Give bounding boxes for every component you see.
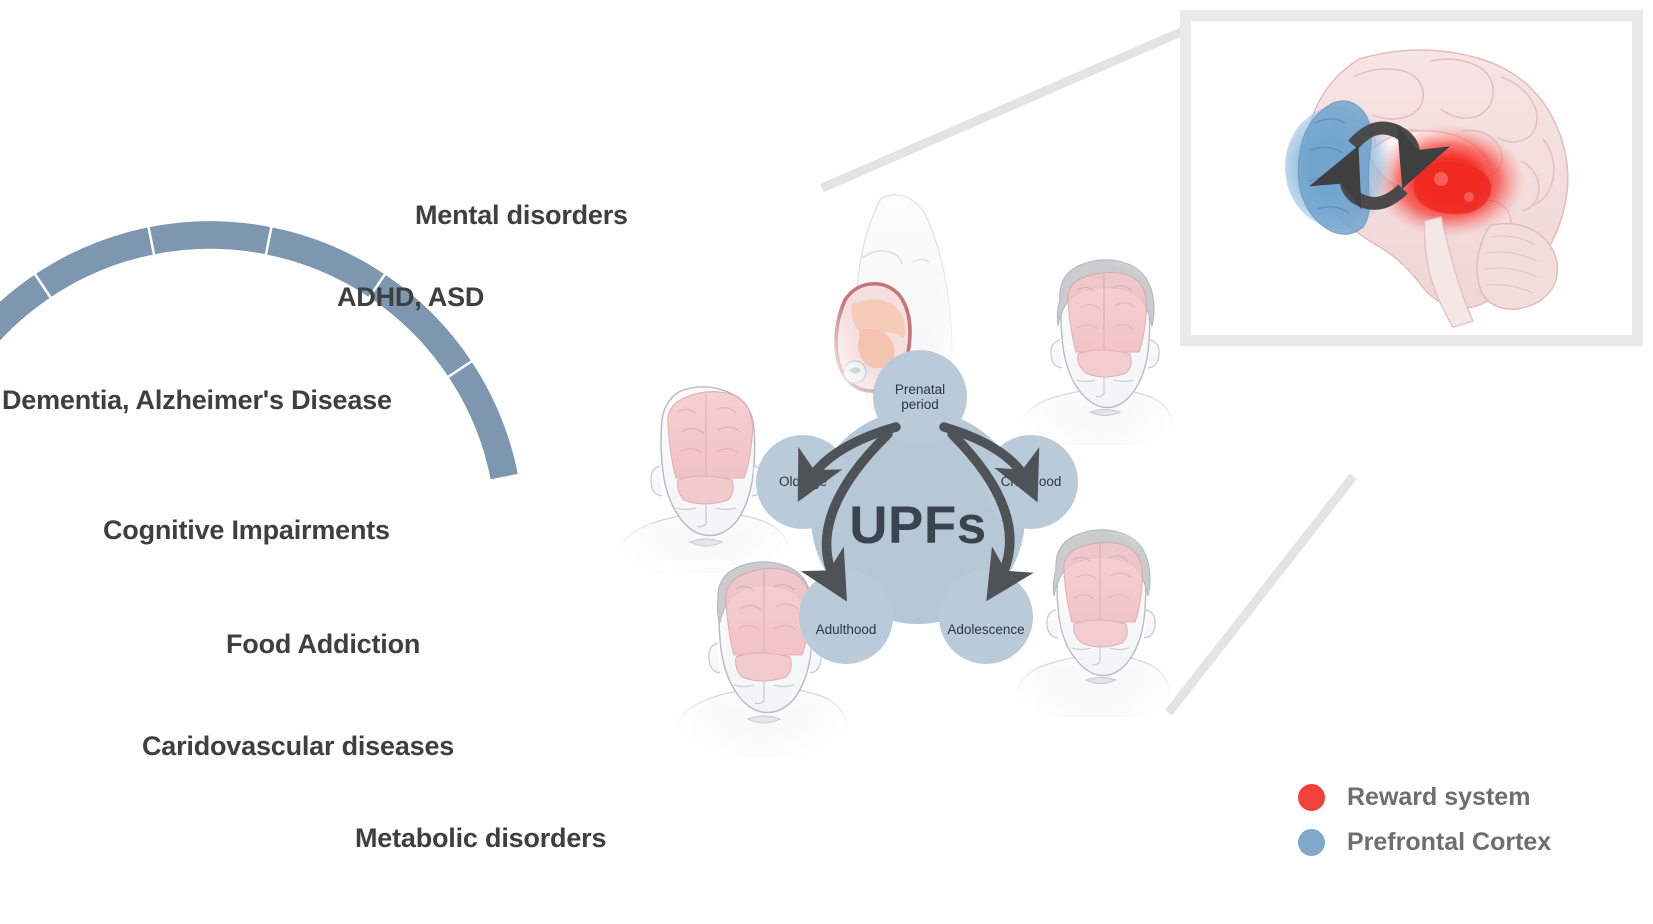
stage-label-prenatal: Prenatalperiod (895, 382, 945, 412)
legend-item-prefrontal-cortex: Prefrontal Cortex (1298, 828, 1551, 857)
legend: Reward system Prefrontal Cortex (1298, 783, 1551, 873)
reward-system-swatch-icon (1298, 784, 1325, 811)
stage-bubble-old-age[interactable]: Old Age (756, 435, 850, 529)
legend-label-reward-system: Reward system (1347, 783, 1530, 812)
brain-sagittal-illustration (1191, 21, 1632, 335)
stage-bubble-adolescence[interactable]: Adolescence (939, 570, 1033, 664)
stage-label-childhood: Childhood (1001, 474, 1062, 489)
stage-label-adolescence: Adolescence (947, 622, 1024, 637)
brain-inset-panel (1180, 10, 1643, 346)
figure-child-head (1008, 260, 1190, 454)
stage-label-old-age: Old Age (779, 474, 827, 489)
legend-label-prefrontal-cortex: Prefrontal Cortex (1347, 828, 1551, 857)
stage-bubble-prenatal[interactable]: Prenatalperiod (873, 350, 967, 444)
stage-bubble-childhood[interactable]: Childhood (984, 435, 1078, 529)
upfs-hub-label: UPFs (849, 495, 986, 556)
figure-canvas: Mental disorders ADHD, ASD Dementia, Alz… (0, 0, 1653, 924)
stage-bubble-adulthood[interactable]: Adulthood (799, 570, 893, 664)
legend-item-reward-system: Reward system (1298, 783, 1551, 812)
prefrontal-cortex-swatch-icon (1298, 829, 1325, 856)
stage-label-adulthood: Adulthood (816, 622, 877, 637)
